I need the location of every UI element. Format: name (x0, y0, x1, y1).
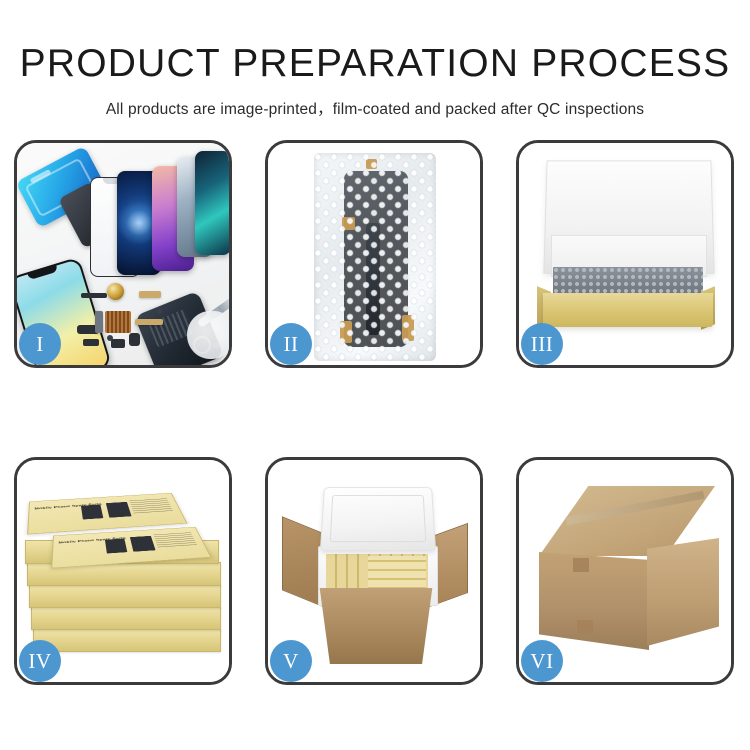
part-bar-1 (81, 293, 107, 298)
page-root: PRODUCT PREPARATION PROCESS All products… (0, 0, 750, 750)
box-label-image-c (81, 505, 103, 520)
page-header: PRODUCT PREPARATION PROCESS All products… (0, 0, 750, 119)
step-card-4[interactable]: Mobile Phone Spare Parts Mobile Phone Sp… (14, 457, 232, 685)
step-badge-6: VI (521, 640, 563, 682)
carton-body (312, 588, 440, 664)
flex-cable-2 (135, 319, 163, 325)
bubble-wrap-bag (314, 153, 436, 361)
screw-1 (107, 335, 113, 341)
page-title: PRODUCT PREPARATION PROCESS (0, 0, 750, 86)
sealed-carton-tab-top (573, 558, 589, 572)
part-bar-4 (111, 339, 125, 348)
step-card-3[interactable]: III (516, 140, 734, 368)
part-bar-3 (83, 339, 99, 346)
sealed-carton-right-face (647, 538, 719, 646)
box-label-lines-front (153, 532, 197, 547)
step-card-1[interactable]: I (14, 140, 232, 368)
stacked-box-bottom-3 (29, 584, 221, 608)
flex-cable-1 (139, 291, 161, 298)
box-label-lines-back (129, 498, 173, 513)
stacked-box-bottom-2 (31, 606, 221, 630)
box-label-image-a (105, 539, 127, 554)
step-card-5[interactable]: V (265, 457, 483, 685)
box-label-image-b (130, 536, 156, 552)
step-badge-2: II (270, 323, 312, 365)
process-steps-grid: I II (14, 140, 736, 686)
box-label-image-d (106, 502, 132, 518)
copper-coil-icon (107, 283, 124, 300)
inner-box-front (543, 293, 713, 327)
step-badge-5: V (270, 640, 312, 682)
step-badge-1: I (19, 323, 61, 365)
bubble-texture (314, 153, 436, 361)
page-subtitle: All products are image-printed，film-coat… (0, 86, 750, 119)
step-badge-4: IV (19, 640, 61, 682)
part-bar-5 (129, 333, 140, 346)
sealed-carton-left-face (539, 552, 649, 650)
step-badge-3: III (521, 323, 563, 365)
white-part-blob (187, 311, 229, 359)
flex-cable-3 (95, 311, 103, 333)
screw-2 (157, 309, 162, 314)
step-card-6[interactable]: VI (516, 457, 734, 685)
foam-lid (320, 487, 436, 551)
step-card-2[interactable]: II (265, 140, 483, 368)
stacked-box-bottom-1 (33, 628, 221, 652)
circuit-chip-icon (105, 311, 131, 333)
phone-teal-screen-icon (195, 151, 229, 255)
sealed-carton-tab-bottom (577, 620, 593, 634)
